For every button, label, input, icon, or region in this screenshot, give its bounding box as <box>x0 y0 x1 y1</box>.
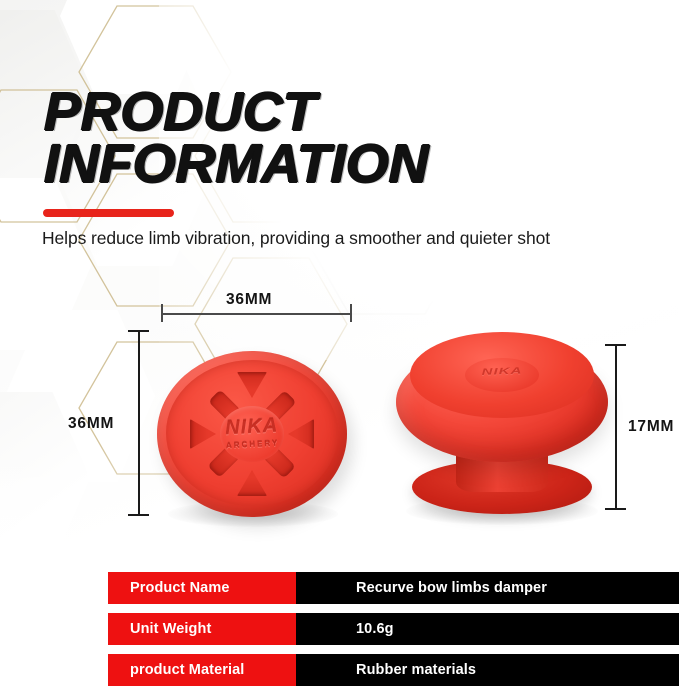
page-subtitle: Helps reduce limb vibration, providing a… <box>42 228 550 249</box>
dimension-label-width: 36MM <box>226 291 272 309</box>
dimension-line-width <box>161 313 352 315</box>
table-row-value: Rubber materials <box>296 654 679 686</box>
table-row-key: Unit Weight <box>108 613 296 645</box>
dimension-tick-diameter-bottom <box>128 514 149 516</box>
page-title-line-2: INFORMATION <box>44 140 676 190</box>
table-row-key: Product Name <box>108 572 296 604</box>
table-row: product Material Rubber materials <box>108 654 679 686</box>
damper-front-hub <box>220 406 284 462</box>
dimension-tick-width-right <box>350 304 352 322</box>
dimension-tick-height-top <box>605 344 626 346</box>
table-row-value: 10.6g <box>296 613 679 645</box>
table-row-key: product Material <box>108 654 296 686</box>
dimension-line-diameter <box>138 330 140 516</box>
dimension-tick-height-bottom <box>605 508 626 510</box>
dimension-label-height: 17MM <box>628 418 674 436</box>
page-title-line-1: PRODUCT <box>44 88 676 138</box>
dimension-label-diameter: 36MM <box>68 415 114 433</box>
table-row-value: Recurve bow limbs damper <box>296 572 679 604</box>
dimension-line-height <box>615 344 617 510</box>
table-row: Unit Weight 10.6g <box>108 613 679 645</box>
damper-side-top-face: NIKA <box>410 332 594 418</box>
specification-table: Product Name Recurve bow limbs damper Un… <box>108 572 679 693</box>
product-image-stage: NIKA ARCHERY <box>0 275 679 545</box>
product-information-page: PRODUCT INFORMATION Helps reduce limb vi… <box>0 0 679 693</box>
dimension-tick-diameter-top <box>128 330 149 332</box>
damper-front-view: NIKA ARCHERY <box>157 351 347 517</box>
accent-bar <box>43 209 174 217</box>
dimension-tick-width-left <box>161 304 163 322</box>
page-title: PRODUCT INFORMATION <box>44 88 664 189</box>
table-row: Product Name Recurve bow limbs damper <box>108 572 679 604</box>
brand-emboss: NIKA <box>447 364 557 378</box>
damper-side-view: NIKA <box>396 332 608 514</box>
